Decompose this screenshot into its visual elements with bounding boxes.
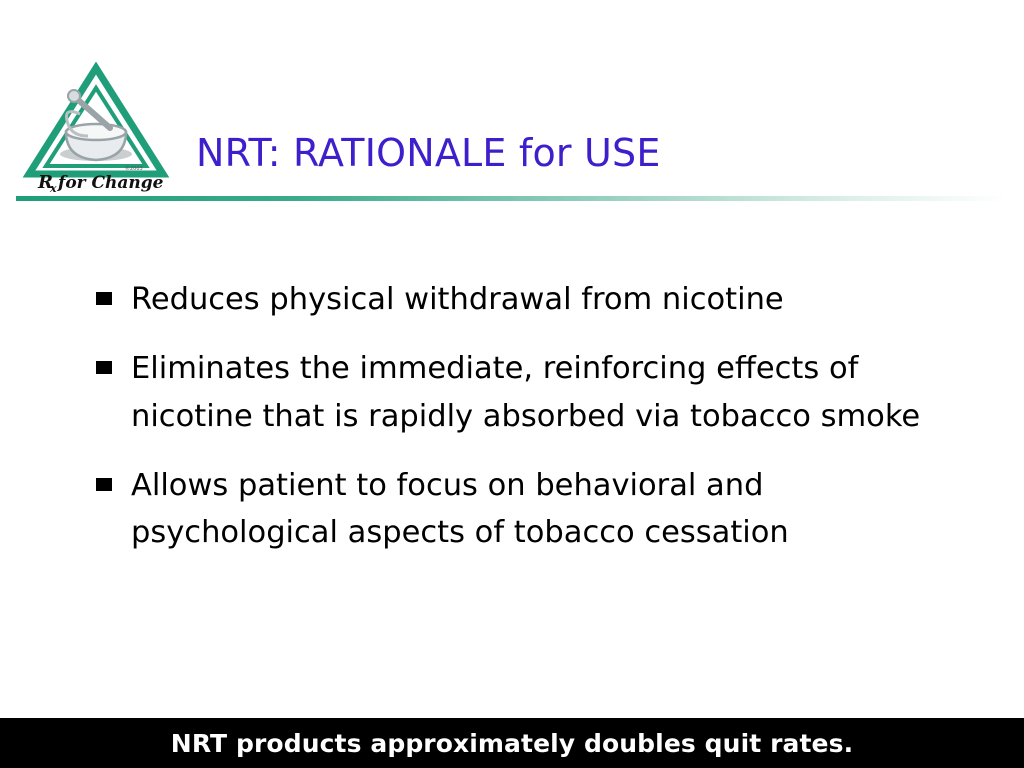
square-bullet-icon (96, 361, 112, 374)
slide-header: R x for Change ©2003 NRT: RATIONALE for … (0, 0, 1024, 205)
list-item-label: Reduces physical withdrawal from nicotin… (131, 276, 784, 323)
list-item-label: Allows patient to focus on behavioral an… (131, 462, 891, 557)
square-bullet-icon (96, 478, 112, 491)
svg-text:©2003: ©2003 (125, 165, 143, 172)
svg-text:for Change: for Change (57, 173, 164, 192)
title-divider (16, 196, 1008, 201)
list-item: Eliminates the immediate, reinforcing ef… (96, 345, 976, 440)
footer-bar: NRT products approximately doubles quit … (0, 718, 1024, 768)
list-item-label: Eliminates the immediate, reinforcing ef… (131, 345, 961, 440)
list-item: Allows patient to focus on behavioral an… (96, 462, 976, 557)
page-title: NRT: RATIONALE for USE (196, 131, 661, 175)
square-bullet-icon (96, 292, 112, 305)
list-item: Reduces physical withdrawal from nicotin… (96, 276, 976, 323)
footer-text: NRT products approximately doubles quit … (171, 729, 853, 758)
bullet-list: Reduces physical withdrawal from nicotin… (96, 276, 976, 578)
rx-for-change-logo: R x for Change ©2003 (22, 62, 170, 192)
svg-text:x: x (49, 182, 57, 192)
slide: R x for Change ©2003 NRT: RATIONALE for … (0, 0, 1024, 768)
